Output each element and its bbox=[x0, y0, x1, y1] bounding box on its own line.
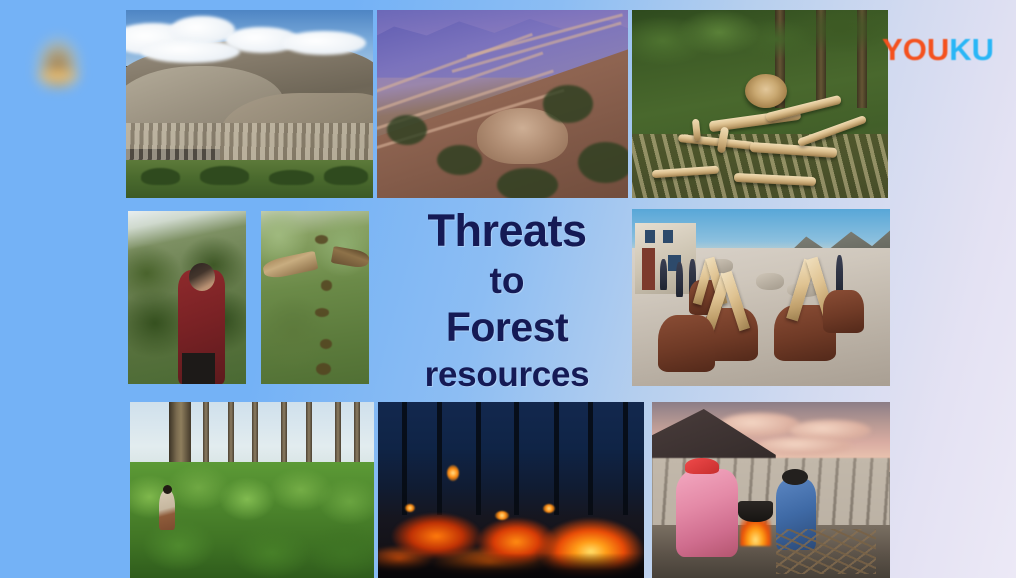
bush bbox=[269, 170, 313, 185]
bark-scar bbox=[315, 308, 329, 317]
head bbox=[163, 485, 172, 494]
cut-stump-end bbox=[745, 74, 787, 108]
red-cap bbox=[685, 458, 718, 474]
bush bbox=[200, 166, 249, 185]
pack-mule bbox=[823, 290, 864, 332]
blurred-logo-glow-icon bbox=[28, 28, 88, 90]
cooking-pot bbox=[738, 501, 774, 522]
photo-content bbox=[126, 10, 373, 198]
pack-mule bbox=[658, 315, 715, 372]
photo-content bbox=[632, 10, 888, 198]
title-line-4: resources bbox=[390, 357, 624, 392]
mules-carrying-timber-photo bbox=[632, 209, 890, 386]
cloud-icon bbox=[282, 31, 366, 55]
title-line-1: Threats bbox=[390, 208, 624, 253]
photo-content bbox=[377, 10, 628, 198]
terraced-hillside-photo bbox=[377, 10, 628, 198]
felled-logs-photo bbox=[632, 10, 888, 198]
page-title: Threats to Forest resources bbox=[390, 208, 624, 392]
vegetation-patch bbox=[497, 168, 557, 198]
cooking-flame bbox=[740, 518, 771, 546]
bush bbox=[141, 168, 181, 185]
photo-content bbox=[632, 209, 890, 386]
cloud-icon bbox=[141, 40, 240, 63]
cooking-on-firewood-photo bbox=[652, 402, 890, 578]
doorway bbox=[642, 248, 655, 290]
vegetation-patch bbox=[543, 85, 593, 123]
eroded-barren-mountain-photo bbox=[126, 10, 373, 198]
photo-content bbox=[652, 402, 890, 578]
forest-fire-photo bbox=[378, 402, 644, 578]
erosion-gullies bbox=[126, 123, 373, 164]
ember bbox=[543, 504, 555, 513]
person-figure bbox=[660, 259, 667, 291]
ember bbox=[405, 504, 415, 512]
photo-content bbox=[128, 211, 246, 384]
foreground-shadow bbox=[378, 553, 644, 578]
bark-scar bbox=[315, 235, 328, 244]
youku-logo-part-2: KU bbox=[949, 32, 994, 67]
photo-content bbox=[261, 211, 369, 384]
person-pink-jacket bbox=[676, 469, 738, 557]
title-line-3: Forest bbox=[390, 307, 624, 348]
firewood-sticks bbox=[776, 529, 876, 575]
photo-content bbox=[378, 402, 644, 578]
legs bbox=[182, 353, 215, 384]
woman-carrying-fodder-photo bbox=[128, 211, 246, 384]
bush bbox=[324, 166, 368, 185]
photo-content bbox=[130, 402, 374, 578]
person-walking bbox=[159, 490, 175, 530]
forest-undergrowth-photo bbox=[130, 402, 374, 578]
vegetation-patch bbox=[578, 142, 628, 183]
title-line-2: to bbox=[390, 262, 624, 299]
window bbox=[663, 230, 673, 242]
head bbox=[782, 469, 808, 485]
head bbox=[189, 263, 215, 291]
debarked-tree-photo bbox=[261, 211, 369, 384]
window bbox=[645, 230, 655, 242]
youku-logo-part-1: YOU bbox=[882, 32, 949, 67]
boulder bbox=[756, 273, 784, 291]
presentation-slide: Threats to Forest resources YOUKU bbox=[0, 0, 1016, 578]
bark-scar bbox=[321, 280, 332, 290]
person-figure bbox=[676, 262, 683, 297]
youku-watermark-logo: YOUKU bbox=[882, 34, 994, 65]
